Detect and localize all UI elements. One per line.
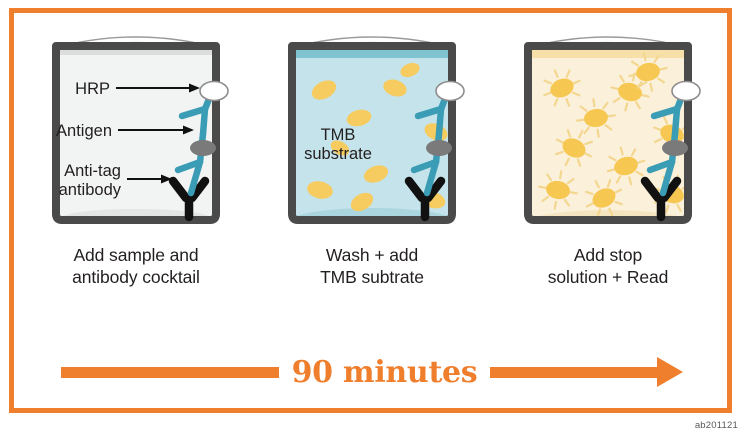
microplate-well-3 bbox=[514, 22, 702, 230]
watermark-code: ab201121 bbox=[695, 420, 738, 431]
hrp-icon-1 bbox=[200, 82, 228, 101]
step-1-caption-line1: Add sample and bbox=[72, 244, 200, 266]
arrow-head-icon bbox=[657, 357, 683, 387]
step-3-caption: Add stop solution + Read bbox=[548, 244, 669, 289]
hrp-label-1: HRP bbox=[75, 80, 110, 98]
anti-tag-antibody-label-line2-1: antibody bbox=[59, 181, 122, 199]
antigen-icon-1 bbox=[190, 140, 216, 156]
step-3-caption-line2: solution + Read bbox=[548, 266, 669, 288]
tmb-substrate-label-line2-2: substrate bbox=[304, 145, 372, 163]
well-diagram-2: TMB substrate bbox=[278, 22, 466, 230]
timeline-bar-left bbox=[61, 367, 279, 378]
hrp-icon-3 bbox=[672, 82, 700, 101]
workflow-step-3: Add stop solution + Read bbox=[494, 22, 722, 307]
well-diagram-1: HRP Antigen Anti-tag antibody bbox=[42, 22, 230, 230]
step-2-caption-line1: Wash + add bbox=[320, 244, 424, 266]
timeline-arrow-right bbox=[490, 357, 683, 387]
timeline-duration-label: 90 minutes bbox=[279, 355, 491, 390]
antigen-label-1: Antigen bbox=[56, 122, 112, 140]
timeline-bar-right bbox=[490, 367, 658, 378]
anti-tag-antibody-label-line1-1: Anti-tag bbox=[64, 162, 121, 180]
antigen-icon-3 bbox=[662, 140, 688, 156]
workflow-steps: HRP Antigen Anti-tag antibody Add sample… bbox=[22, 22, 722, 307]
well-diagram-3 bbox=[514, 22, 702, 230]
tmb-substrate-label-line1-2: TMB bbox=[321, 126, 356, 144]
step-1-caption-line2: antibody cocktail bbox=[72, 266, 200, 288]
workflow-step-1: HRP Antigen Anti-tag antibody Add sample… bbox=[22, 22, 250, 307]
microplate-well-2: TMB substrate bbox=[278, 22, 466, 230]
duration-timeline: 90 minutes bbox=[22, 348, 722, 396]
step-2-caption-line2: TMB subtrate bbox=[320, 266, 424, 288]
microplate-well-1: HRP Antigen Anti-tag antibody bbox=[42, 22, 230, 230]
antigen-icon-2 bbox=[426, 140, 452, 156]
hrp-icon-2 bbox=[436, 82, 464, 101]
workflow-step-2: TMB substrate Wash + add TMB subtrate bbox=[258, 22, 486, 307]
elisa-workflow-figure: HRP Antigen Anti-tag antibody Add sample… bbox=[0, 0, 750, 437]
step-3-caption-line1: Add stop bbox=[548, 244, 669, 266]
step-1-caption: Add sample and antibody cocktail bbox=[72, 244, 200, 289]
step-2-caption: Wash + add TMB subtrate bbox=[320, 244, 424, 289]
